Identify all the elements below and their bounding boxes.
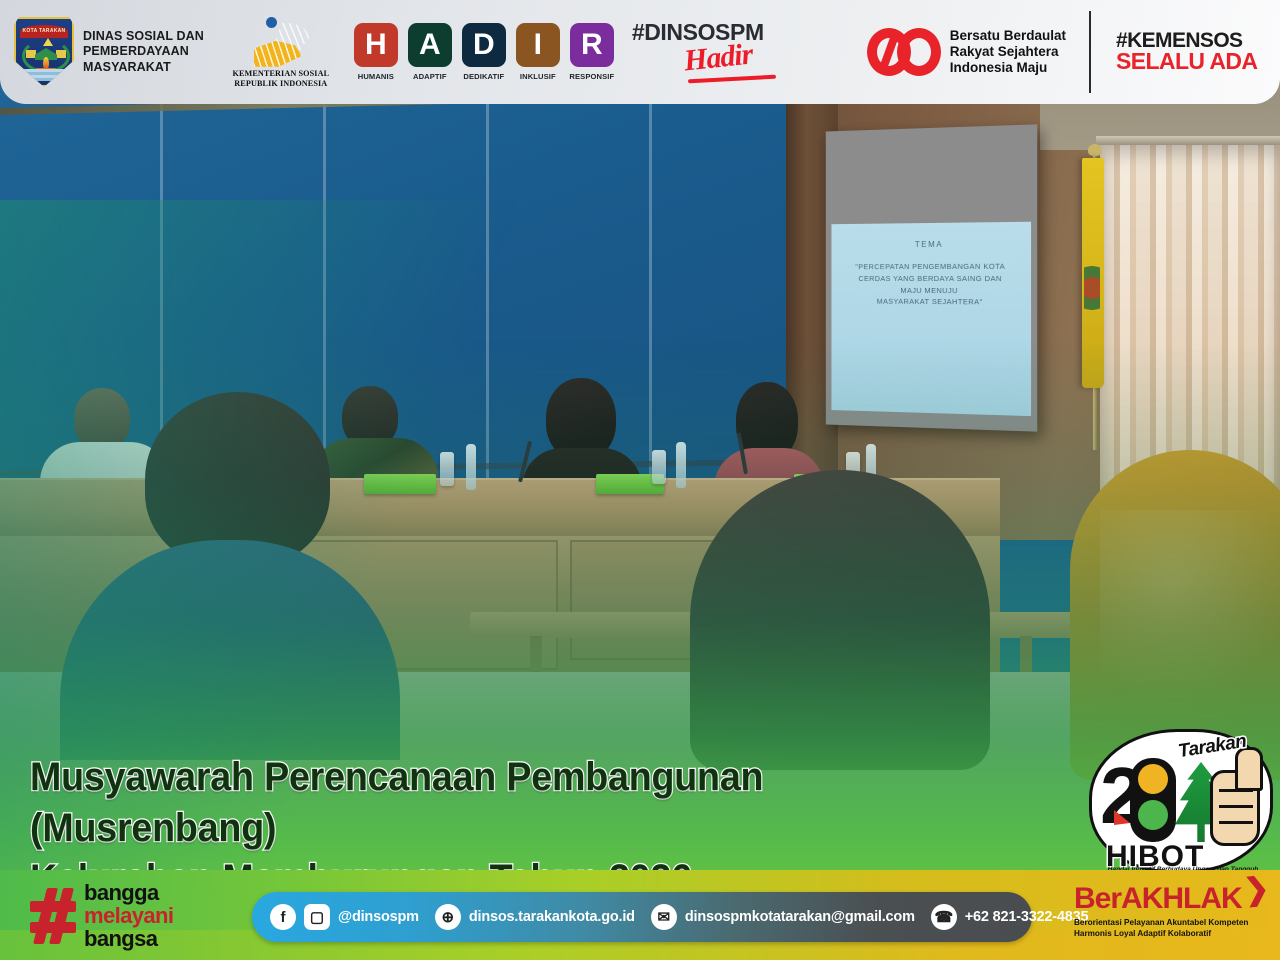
hadir-caption-h: HUMANIS <box>358 72 394 81</box>
crest-box-left <box>26 50 36 58</box>
anniversary-80-icon <box>867 28 941 76</box>
anniversary-line-2: Rakyat Sejahtera <box>950 44 1066 60</box>
anniversary-slogan: Bersatu Berdaulat Rakyat Sejahtera Indon… <box>950 28 1066 77</box>
berakhlak-values: Berorientasi Pelayanan Akuntabel Kompete… <box>1074 917 1274 939</box>
kemensos-selalu-ada: SELALU ADA <box>1116 48 1266 75</box>
instagram-icon[interactable]: ▢ <box>304 904 330 930</box>
dinas-line-1: DINAS SOSIAL DAN <box>83 29 204 44</box>
hibot-logo: 2 Tarakan HIBOT Handal Inovatif Berbuday… <box>1092 732 1270 870</box>
slide-line-1: "PERCEPATAN PENGEMBANGAN KOTA <box>839 261 1023 273</box>
header-divider <box>1089 11 1091 93</box>
kemensos-line-1: KEMENTERIAN SOSIAL <box>232 69 329 79</box>
hadir-caption-a: ADAPTIF <box>413 72 447 81</box>
berakhlak-values-line-1: Berorientasi Pelayanan Akuntabel Kompete… <box>1074 917 1274 928</box>
slide-line-3: MAJU MENUJU <box>839 285 1023 297</box>
bangga-melayani-bangsa-logo: bangga melayani bangsa <box>30 882 173 951</box>
kemensos-label: KEMENTERIAN SOSIAL REPUBLIK INDONESIA <box>232 69 329 90</box>
kemensos-head-dot <box>266 17 277 28</box>
hadir-box-d: D <box>462 23 506 67</box>
kemensos-line-2: REPUBLIK INDONESIA <box>232 79 329 89</box>
contact-pill: f ▢ @dinsospm ⊕ dinsos.tarakankota.go.id… <box>252 892 1032 942</box>
hadir-item-r: R RESPONSIF <box>568 23 616 81</box>
bangga-text: bangga melayani bangsa <box>84 882 173 951</box>
dinas-line-2: PEMBERDAYAAN <box>83 44 204 59</box>
bangga-hash-icon <box>30 888 76 944</box>
flag-finial <box>1088 144 1102 156</box>
poster-root: TEMA "PERCEPATAN PENGEMBANGAN KOTA CERDA… <box>0 0 1280 960</box>
website-icon[interactable]: ⊕ <box>435 904 461 930</box>
dinsospm-hadir-script: Hadir <box>682 38 754 79</box>
berakhlak-arrow-icon: ❯ <box>1242 871 1271 908</box>
bangga-line-2: melayani <box>84 905 173 928</box>
hadir-caption-r: RESPONSIF <box>569 72 614 81</box>
crest-sea <box>18 69 70 81</box>
whatsapp-icon[interactable]: ☎ <box>931 904 957 930</box>
whatsapp-number[interactable]: +62 821-3322-4835 <box>965 909 1089 925</box>
dinas-name: DINAS SOSIAL DAN PEMBERDAYAAN MASYARAKAT <box>83 29 204 75</box>
dinas-line-3: MASYARAKAT <box>83 60 204 75</box>
header-bar: KOTA TARAKAN DINAS SOSIAL DAN PEMBERDAYA… <box>0 0 1280 104</box>
instagram-handle[interactable]: @dinsospm <box>338 909 419 925</box>
crest-box-right <box>56 50 66 58</box>
crest-ribbon: KOTA TARAKAN <box>20 25 68 38</box>
hadir-box-a: A <box>408 23 452 67</box>
hadir-item-d: D DEDIKATIF <box>460 23 508 81</box>
slide-heading: TEMA <box>839 238 1023 252</box>
kota-tarakan-crest-icon: KOTA TARAKAN <box>14 17 74 87</box>
berakhlak-values-line-2: Harmonis Loyal Adaptif Kolaboratif <box>1074 928 1274 939</box>
bangga-line-1: bangga <box>84 882 173 905</box>
hadir-item-h: H HUMANIS <box>352 23 400 81</box>
hadir-box-r: R <box>570 23 614 67</box>
berakhlak-logo: BerAKHLAK ❯ Berorientasi Pelayanan Akunt… <box>1074 884 1274 939</box>
kemensos-logo-icon <box>250 15 312 67</box>
crest-ribbon-text: KOTA TARAKAN <box>20 25 68 38</box>
hadir-values-group: H HUMANIS A ADAPTIF D DEDIKATIF I INKLUS… <box>352 23 616 81</box>
anniversary-line-3: Indonesia Maju <box>950 60 1066 76</box>
anniversary-line-1: Bersatu Berdaulat <box>950 28 1066 44</box>
hibot-thumbs-up-icon <box>1210 770 1260 846</box>
hadir-item-i: I INKLUSIF <box>514 23 562 81</box>
hibot-amber-light <box>1138 764 1168 794</box>
anniversary-ring-right <box>897 28 941 76</box>
tarakan-logo-group: KOTA TARAKAN DINAS SOSIAL DAN PEMBERDAYA… <box>14 17 204 87</box>
anniversary-group: Bersatu Berdaulat Rakyat Sejahtera Indon… <box>867 11 1266 93</box>
facebook-icon[interactable]: f <box>270 904 296 930</box>
dinsospm-hashtag-group: #DINSOSPM Hadir <box>632 19 792 85</box>
hadir-caption-i: INKLUSIF <box>520 72 556 81</box>
website-url[interactable]: dinsos.tarakankota.go.id <box>469 909 635 925</box>
kemensos-selalu-ada-group: #KEMENSOS SELALU ADA <box>1116 29 1266 75</box>
hibot-red-triangle <box>1114 810 1130 825</box>
hibot-green-light <box>1138 800 1168 830</box>
email-icon[interactable]: ✉ <box>651 904 677 930</box>
blinds-rail <box>1096 136 1280 145</box>
hadir-box-i: I <box>516 23 560 67</box>
hadir-item-a: A ADAPTIF <box>406 23 454 81</box>
hadir-box-h: H <box>354 23 398 67</box>
slide-line-4: MASYARAKAT SEJAHTERA" <box>839 296 1023 309</box>
email-address[interactable]: dinsospmkotatarakan@gmail.com <box>685 909 915 925</box>
event-title-line-1: Musyawarah Perencanaan Pembangunan (Musr… <box>30 752 989 854</box>
slide-line-2: CERDAS YANG BERDAYA SAING DAN <box>839 273 1023 285</box>
kemensos-logo-group: KEMENTERIAN SOSIAL REPUBLIK INDONESIA <box>226 15 336 90</box>
hadir-caption-d: DEDIKATIF <box>463 72 504 81</box>
bangga-line-3: bangsa <box>84 928 173 951</box>
